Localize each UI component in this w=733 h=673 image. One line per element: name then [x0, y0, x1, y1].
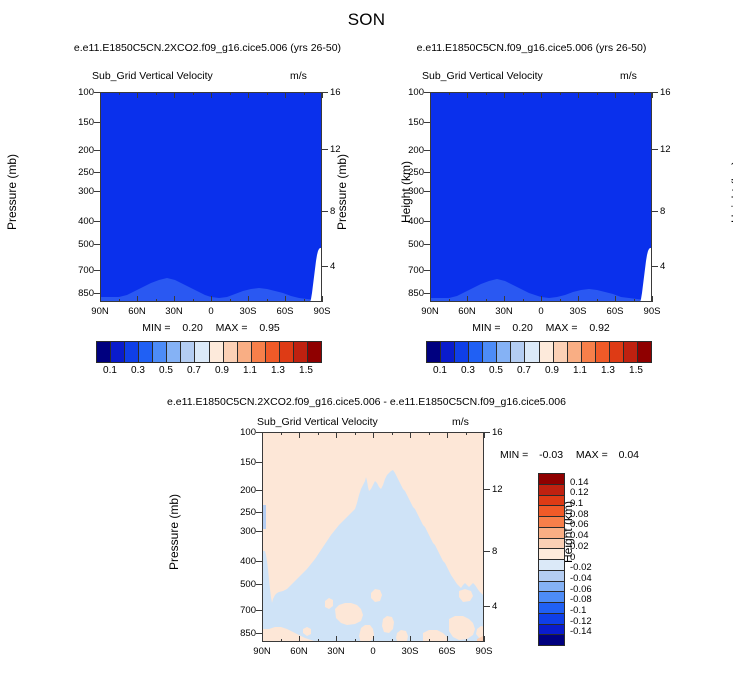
axis-tick	[430, 296, 431, 302]
panel-variable-label-case-2: Sub_Grid Vertical Velocity	[422, 70, 543, 82]
colorbar-segment	[124, 342, 138, 362]
colorbar-tick: 0.3	[124, 365, 152, 376]
colorbar-segment	[539, 528, 564, 539]
pressure-tick: 100	[224, 427, 256, 438]
axis-tick	[615, 296, 616, 302]
colorbar-segment	[539, 614, 564, 625]
colorbar-segment	[539, 560, 564, 571]
axis-tick	[304, 299, 305, 302]
colorbar-segment	[152, 342, 166, 362]
latitude-tick: 0	[196, 306, 226, 317]
axis-tick	[541, 296, 542, 302]
axis-tick	[466, 432, 467, 435]
pressure-tick: 300	[392, 186, 424, 197]
colorbar-segment	[539, 592, 564, 603]
colorbar-tick: 0.14	[570, 477, 589, 488]
axis-tick	[262, 432, 263, 438]
pressure-tick: 300	[62, 186, 94, 197]
axis-tick	[410, 432, 411, 438]
pressure-tick: 500	[224, 579, 256, 590]
contour-fill-case-1	[101, 93, 321, 301]
latitude-tick: 60N	[284, 646, 314, 657]
colorbar-tick: -0.04	[570, 573, 592, 584]
colorbar-segment	[209, 342, 223, 362]
axis-tick	[299, 432, 300, 438]
colorbar-segment	[539, 506, 564, 517]
colorbar-segment	[539, 625, 564, 636]
colorbar-tick: 1.1	[566, 365, 594, 376]
axis-tick	[373, 636, 374, 642]
colorbar-segment	[539, 582, 564, 593]
colorbar-tick: 0.08	[570, 509, 589, 520]
axis-tick	[634, 92, 635, 95]
colorbar-case-1	[96, 341, 322, 363]
colorbar-tick: 0.3	[454, 365, 482, 376]
latitude-tick: 60N	[452, 306, 482, 317]
axis-tick	[560, 92, 561, 95]
axis-tick	[486, 299, 487, 302]
colorbar-segment	[293, 342, 307, 362]
colorbar-tick: 0.9	[538, 365, 566, 376]
pressure-tick: 100	[392, 87, 424, 98]
axis-tick	[156, 299, 157, 302]
max-value: 0.04	[619, 449, 639, 461]
pressure-tick: 200	[392, 145, 424, 156]
minmax-difference: MIN = -0.03 MAX = 0.04	[500, 449, 725, 461]
axis-tick	[211, 92, 212, 98]
latitude-tick: 90S	[637, 306, 667, 317]
y2-axis-title-case-2: Height (km)	[729, 142, 733, 242]
panel-units-label-difference: m/s	[452, 416, 469, 428]
axis-tick	[578, 296, 579, 302]
pressure-tick: 250	[392, 167, 424, 178]
contour-fill-difference	[263, 433, 483, 641]
pressure-tick: 200	[62, 145, 94, 156]
pressure-tick: 400	[392, 216, 424, 227]
colorbar-segment	[539, 496, 564, 507]
latitude-tick: 90N	[85, 306, 115, 317]
axis-tick	[634, 299, 635, 302]
colorbar-segment	[468, 342, 482, 362]
colorbar-tick: 0.1	[426, 365, 454, 376]
colorbar-segment	[595, 342, 609, 362]
axis-tick	[467, 296, 468, 302]
axis-tick	[318, 639, 319, 642]
colorbar-tick: 1.5	[622, 365, 650, 376]
colorbar-segment	[567, 342, 581, 362]
colorbar-tick: 1.3	[264, 365, 292, 376]
colorbar-tick: 0.9	[208, 365, 236, 376]
colorbar-tick: 0	[570, 552, 575, 563]
axis-tick	[597, 92, 598, 95]
colorbar-tick: 0.06	[570, 519, 589, 530]
colorbar-tick: -0.1	[570, 605, 586, 616]
axis-tick	[652, 92, 653, 98]
minmax-case-1: MIN = 0.20 MAX = 0.95	[100, 322, 322, 334]
colorbar-tick: 0.1	[570, 498, 583, 509]
axis-tick	[541, 92, 542, 98]
colorbar-segment	[279, 342, 293, 362]
pressure-tick: 850	[62, 288, 94, 299]
colorbar-tick: 0.12	[570, 487, 589, 498]
colorbar-tick: 1.1	[236, 365, 264, 376]
panel-units-label-case-1: m/s	[290, 70, 307, 82]
axis-tick	[304, 92, 305, 95]
colorbar-segment	[166, 342, 180, 362]
latitude-tick: 60S	[270, 306, 300, 317]
panel-title-difference: e.e11.E1850C5CN.2XCO2.f09_g16.cice5.006 …	[0, 396, 733, 408]
axis-tick	[355, 432, 356, 435]
axis-tick	[318, 432, 319, 435]
colorbar-segment	[524, 342, 538, 362]
min-label: MIN =	[500, 449, 528, 461]
colorbar-segment	[223, 342, 237, 362]
height-tick: 12	[660, 144, 671, 155]
panel-variable-label-case-1: Sub_Grid Vertical Velocity	[92, 70, 213, 82]
height-tick: 12	[492, 484, 503, 495]
pressure-tick: 700	[62, 265, 94, 276]
colorbar-segment	[496, 342, 510, 362]
height-tick: 8	[660, 206, 665, 217]
axis-tick	[447, 432, 448, 438]
min-value: 0.20	[512, 322, 532, 334]
colorbar-segment	[138, 342, 152, 362]
axis-tick	[100, 296, 101, 302]
panel-variable-label-difference: Sub_Grid Vertical Velocity	[257, 416, 378, 428]
min-value: -0.03	[539, 449, 563, 461]
axis-tick	[392, 639, 393, 642]
colorbar-segment	[237, 342, 251, 362]
latitude-tick: 30S	[563, 306, 593, 317]
axis-tick	[267, 299, 268, 302]
colorbar-tick: -0.08	[570, 594, 592, 605]
axis-tick	[336, 636, 337, 642]
latitude-tick: 90N	[415, 306, 445, 317]
pressure-tick: 150	[62, 117, 94, 128]
max-label: MAX =	[216, 322, 248, 334]
height-tick: 4	[330, 261, 335, 272]
pressure-tick: 250	[224, 507, 256, 518]
max-label: MAX =	[546, 322, 578, 334]
colorbar-segment	[609, 342, 623, 362]
axis-tick	[447, 636, 448, 642]
y-axis-title-difference: Pressure (mb)	[167, 482, 181, 582]
colorbar-tick: 0.02	[570, 541, 589, 552]
colorbar-tick: 0.5	[152, 365, 180, 376]
colorbar-segment	[539, 474, 564, 485]
height-tick: 16	[492, 427, 503, 438]
colorbar-tick: 0.7	[510, 365, 538, 376]
colorbar-segment	[539, 517, 564, 528]
axis-tick	[373, 432, 374, 438]
contour-fill-case-2	[431, 93, 651, 301]
plot-area-case-1	[100, 92, 322, 302]
axis-tick	[504, 296, 505, 302]
y-axis-title-case-2: Pressure (mb)	[335, 142, 349, 242]
axis-tick	[248, 296, 249, 302]
max-value: 0.95	[259, 322, 279, 334]
axis-tick	[137, 92, 138, 98]
axis-tick	[597, 299, 598, 302]
panel-units-label-case-2: m/s	[620, 70, 637, 82]
pressure-tick: 100	[62, 87, 94, 98]
latitude-tick: 60S	[432, 646, 462, 657]
height-tick: 16	[660, 87, 671, 98]
colorbar-segment	[539, 342, 553, 362]
colorbar-segment	[482, 342, 496, 362]
axis-tick	[578, 92, 579, 98]
height-tick: 8	[492, 546, 497, 557]
latitude-tick: 0	[358, 646, 388, 657]
colorbar-tick: 0.5	[482, 365, 510, 376]
max-value: 0.92	[589, 322, 609, 334]
pressure-tick: 400	[62, 216, 94, 227]
colorbar-segment	[539, 571, 564, 582]
axis-tick	[119, 92, 120, 95]
axis-tick	[392, 432, 393, 435]
axis-tick	[299, 636, 300, 642]
axis-tick	[100, 92, 101, 98]
axis-tick	[652, 296, 653, 302]
pressure-tick: 300	[224, 526, 256, 537]
axis-tick	[410, 636, 411, 642]
height-tick: 4	[492, 601, 497, 612]
colorbar-tick: 0.7	[180, 365, 208, 376]
colorbar-segment	[539, 603, 564, 614]
figure-title: SON	[0, 10, 733, 30]
min-value: 0.20	[182, 322, 202, 334]
colorbar-segment	[97, 342, 110, 362]
pressure-tick: 200	[224, 485, 256, 496]
colorbar-case-2	[426, 341, 652, 363]
colorbar-segment	[454, 342, 468, 362]
latitude-tick: 90S	[307, 306, 337, 317]
axis-tick	[174, 92, 175, 98]
colorbar-segment	[581, 342, 595, 362]
colorbar-tick: -0.14	[570, 626, 592, 637]
colorbar-difference	[538, 473, 565, 646]
axis-tick	[322, 92, 323, 98]
axis-tick	[285, 92, 286, 98]
axis-tick	[355, 639, 356, 642]
colorbar-segment	[623, 342, 637, 362]
axis-tick	[486, 92, 487, 95]
latitude-tick: 30N	[489, 306, 519, 317]
axis-tick	[484, 432, 485, 438]
axis-tick	[466, 639, 467, 642]
pressure-tick: 150	[224, 457, 256, 468]
colorbar-tick: -0.12	[570, 616, 592, 627]
colorbar-segment	[251, 342, 265, 362]
axis-tick	[560, 299, 561, 302]
colorbar-tick: 1.5	[292, 365, 320, 376]
axis-tick	[211, 296, 212, 302]
axis-tick	[615, 92, 616, 98]
colorbar-tick: 0.04	[570, 530, 589, 541]
latitude-tick: 30N	[159, 306, 189, 317]
pressure-tick: 500	[62, 239, 94, 250]
colorbar-segment	[110, 342, 124, 362]
colorbar-segment	[637, 342, 651, 362]
colorbar-segment	[510, 342, 524, 362]
height-tick: 16	[330, 87, 341, 98]
pressure-tick: 700	[224, 605, 256, 616]
colorbar-tick: -0.06	[570, 584, 592, 595]
axis-tick	[336, 432, 337, 438]
pressure-tick: 250	[62, 167, 94, 178]
pressure-tick: 400	[224, 556, 256, 567]
axis-tick	[484, 636, 485, 642]
latitude-tick: 30S	[233, 306, 263, 317]
axis-tick	[174, 296, 175, 302]
pressure-tick: 500	[392, 239, 424, 250]
y-axis-title-case-1: Pressure (mb)	[5, 142, 19, 242]
axis-tick	[504, 92, 505, 98]
axis-tick	[230, 92, 231, 95]
colorbar-segment	[180, 342, 194, 362]
plot-area-case-2	[430, 92, 652, 302]
axis-tick	[523, 299, 524, 302]
colorbar-segment	[440, 342, 454, 362]
axis-tick	[281, 639, 282, 642]
min-label: MIN =	[472, 322, 500, 334]
colorbar-tick: 0.1	[96, 365, 124, 376]
axis-tick	[449, 299, 450, 302]
colorbar-segment	[427, 342, 440, 362]
min-label: MIN =	[142, 322, 170, 334]
axis-tick	[137, 296, 138, 302]
pressure-tick: 150	[392, 117, 424, 128]
axis-tick	[467, 92, 468, 98]
colorbar-segment	[194, 342, 208, 362]
colorbar-segment	[539, 539, 564, 550]
latitude-tick: 90S	[469, 646, 499, 657]
colorbar-segment	[553, 342, 567, 362]
colorbar-tick: 1.3	[594, 365, 622, 376]
axis-tick	[523, 92, 524, 95]
axis-tick	[285, 296, 286, 302]
panel-title-case-2: e.e11.E1850C5CN.f09_g16.cice5.006 (yrs 2…	[330, 42, 733, 54]
colorbar-segment	[265, 342, 279, 362]
minmax-case-2: MIN = 0.20 MAX = 0.92	[430, 322, 652, 334]
colorbar-segment	[539, 635, 564, 645]
axis-tick	[262, 636, 263, 642]
colorbar-segment	[539, 485, 564, 496]
axis-tick	[267, 92, 268, 95]
latitude-tick: 60S	[600, 306, 630, 317]
pressure-tick: 850	[224, 628, 256, 639]
axis-tick	[248, 92, 249, 98]
colorbar-segment	[307, 342, 321, 362]
colorbar-segment	[539, 549, 564, 560]
latitude-tick: 30N	[321, 646, 351, 657]
axis-tick	[449, 92, 450, 95]
colorbar-tick: -0.02	[570, 562, 592, 573]
axis-tick	[322, 296, 323, 302]
axis-tick	[429, 639, 430, 642]
max-label: MAX =	[576, 449, 608, 461]
axis-tick	[430, 92, 431, 98]
latitude-tick: 90N	[247, 646, 277, 657]
plot-area-difference	[262, 432, 484, 642]
latitude-tick: 60N	[122, 306, 152, 317]
latitude-tick: 0	[526, 306, 556, 317]
axis-tick	[156, 92, 157, 95]
axis-tick	[193, 92, 194, 95]
axis-tick	[193, 299, 194, 302]
latitude-tick: 30S	[395, 646, 425, 657]
axis-tick	[230, 299, 231, 302]
axis-tick	[119, 299, 120, 302]
axis-tick	[429, 432, 430, 435]
axis-tick	[281, 432, 282, 435]
pressure-tick: 700	[392, 265, 424, 276]
height-tick: 4	[660, 261, 665, 272]
pressure-tick: 850	[392, 288, 424, 299]
